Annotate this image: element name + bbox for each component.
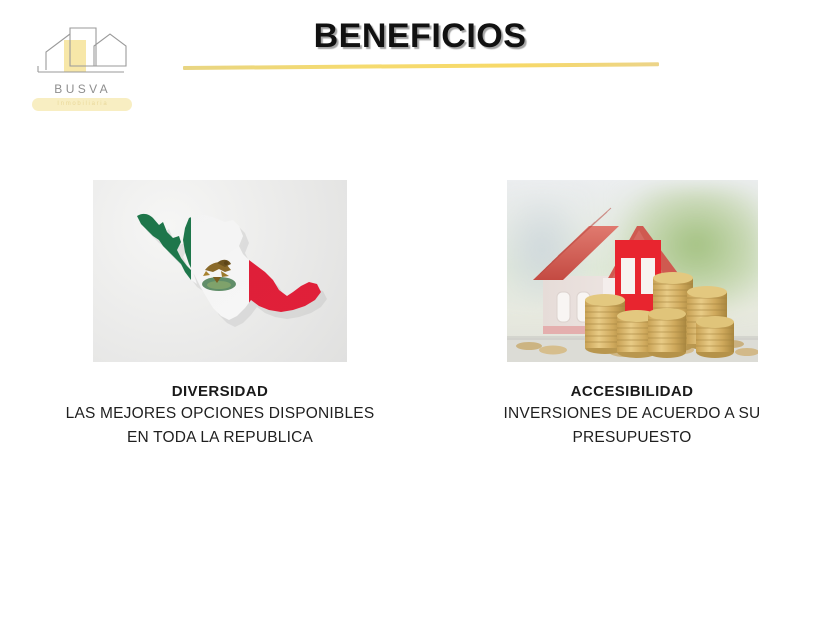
benefit-caption: DIVERSIDAD LAS MEJORES OPCIONES DISPONIB… <box>22 382 418 450</box>
benefit-column-accesibilidad: ACCESIBILIDAD INVERSIONES DE ACUERDO A S… <box>444 180 820 450</box>
house-with-coin-stacks-image <box>507 180 758 362</box>
benefit-heading: ACCESIBILIDAD <box>444 382 820 402</box>
benefit-line-1: INVERSIONES DE ACUERDO A SU <box>444 402 820 426</box>
logo-wordmark: BUSVA <box>26 82 136 96</box>
buildings-outline-icon <box>26 26 136 82</box>
coin-stack-4 <box>648 308 686 358</box>
benefit-line-1: LAS MEJORES OPCIONES DISPONIBLES <box>22 402 418 426</box>
logo-tagline: Inmobiliaria <box>32 98 132 111</box>
title-underline-rule <box>183 62 659 70</box>
page-title: BENEFICIOS <box>170 17 670 56</box>
brand-logo: BUSVA Inmobiliaria <box>26 26 136 118</box>
slide-canvas: BUSVA Inmobiliaria BENEFICIOS <box>0 0 840 630</box>
benefit-column-diversidad: DIVERSIDAD LAS MEJORES OPCIONES DISPONIB… <box>22 180 418 450</box>
benefit-line-2: PRESUPUESTO <box>444 426 820 450</box>
benefit-caption: ACCESIBILIDAD INVERSIONES DE ACUERDO A S… <box>444 382 820 450</box>
benefit-heading: DIVERSIDAD <box>22 382 418 402</box>
coin-stack-6 <box>696 316 734 358</box>
mexico-map-flag-image <box>93 180 347 362</box>
benefit-line-2: EN TODA LA REPUBLICA <box>22 426 418 450</box>
